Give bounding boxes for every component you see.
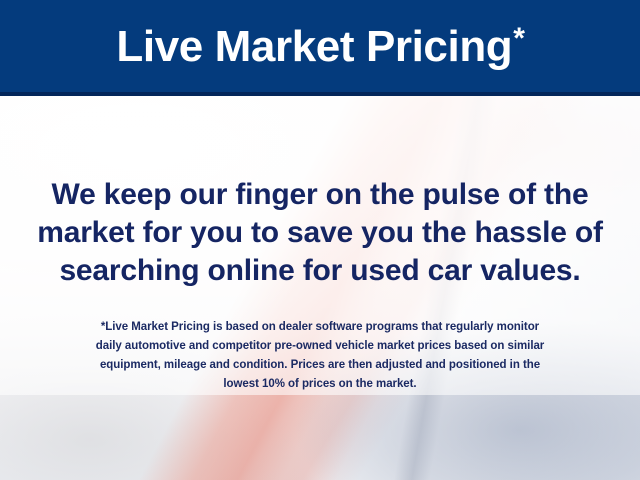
disclaimer-line-1: *Live Market Pricing is based on dealer … [0,318,640,337]
live-market-pricing-banner: Live Market Pricing* We keep our finger … [0,0,640,480]
headline-block: We keep our finger on the pulse of the m… [0,176,640,290]
disclaimer-block: *Live Market Pricing is based on dealer … [0,318,640,394]
page-title: Live Market Pricing* [116,25,523,69]
headline-line-3: searching online for used car values. [0,252,640,290]
disclaimer-line-2: daily automotive and competitor pre-owne… [0,337,640,356]
headline-line-2: market for you to save you the hassle of [0,214,640,252]
page-title-text: Live Market Pricing [116,22,512,71]
headline-line-1: We keep our finger on the pulse of the [0,176,640,214]
header-bar: Live Market Pricing* [0,0,640,92]
disclaimer-line-3: equipment, mileage and condition. Prices… [0,356,640,375]
header-divider [0,92,640,96]
disclaimer-line-4: lowest 10% of prices on the market. [0,375,640,394]
title-asterisk-footnote-marker: * [513,22,524,55]
